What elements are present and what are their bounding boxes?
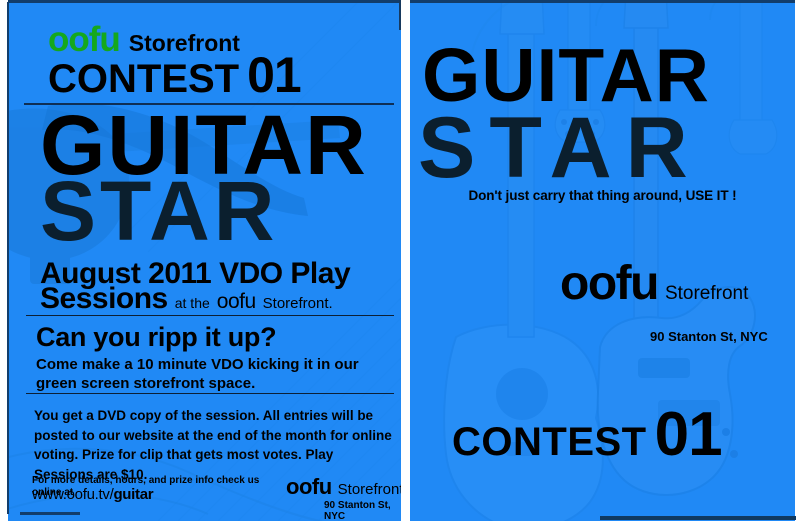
- right-brand-storefront: Storefront: [665, 284, 748, 303]
- sessions-heading-line2: Sessions: [40, 282, 168, 316]
- right-frame-edge: [795, 0, 800, 523]
- divider-rule-middle: [26, 315, 394, 316]
- divider-rule-lower: [26, 393, 394, 394]
- website-url[interactable]: www.oofu.tv/guitar: [32, 486, 153, 503]
- footer-brand-oofu: oofu: [286, 474, 332, 500]
- contest-number: 01: [247, 50, 301, 100]
- come-make-copy: Come make a 10 minute VDO kicking it in …: [36, 355, 396, 393]
- divider-rule-top: [24, 103, 394, 105]
- details-copy: You get a DVD copy of the session. All e…: [34, 406, 396, 484]
- panel-gutter: [401, 0, 410, 523]
- left-contest-row: CONTEST 01: [48, 50, 301, 101]
- sessions-heading-line2-row: Sessions at the oofu Storefront.: [40, 282, 333, 316]
- left-poster-panel: oofu Storefront CONTEST 01 GUITAR STAR A…: [8, 2, 401, 521]
- footer-brand-storefront: Storefront: [338, 481, 401, 498]
- website-url-prefix: www.oofu.tv/: [32, 486, 113, 503]
- footer-brand-row: oofu Storefront: [286, 474, 401, 500]
- headline-line-star: STAR: [40, 172, 278, 252]
- question-headline: Can you ripp it up?: [36, 322, 276, 353]
- sessions-storefront-label: Storefront.: [263, 295, 333, 312]
- right-contest-label: CONTEST: [452, 420, 647, 465]
- panel-gutter-line: [399, 0, 401, 30]
- left-frame-line: [7, 2, 9, 514]
- sessions-at-the-label: at the: [175, 295, 210, 311]
- right-headline-star: STAR: [418, 105, 702, 191]
- right-contest-number: 01: [655, 407, 722, 463]
- right-poster-panel: GUITAR STAR Don't just carry that thing …: [410, 2, 795, 521]
- sessions-brand-oofu: oofu: [217, 290, 256, 314]
- right-brand-row: oofu Storefront: [560, 260, 748, 308]
- poster-canvas: oofu Storefront CONTEST 01 GUITAR STAR A…: [0, 0, 800, 523]
- right-brand-oofu: oofu: [560, 260, 658, 308]
- right-tagline: Don't just carry that thing around, USE …: [410, 188, 795, 203]
- right-contest-row: CONTEST 01: [452, 407, 722, 465]
- bottom-left-frame-shadow: [20, 512, 80, 515]
- bottom-frame-shadow: [600, 516, 796, 520]
- contest-label: CONTEST: [48, 57, 239, 101]
- footer-address: 90 Stanton St, NYC: [324, 500, 401, 521]
- website-url-suffix: guitar: [113, 486, 153, 503]
- right-address: 90 Stanton St, NYC: [650, 329, 768, 344]
